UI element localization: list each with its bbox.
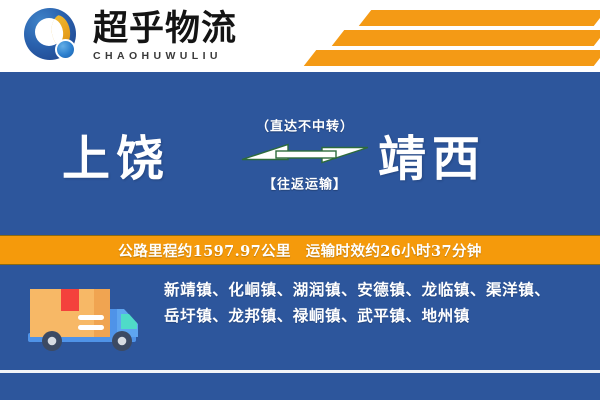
stripe-2 xyxy=(332,30,600,46)
destination-city: 靖西 xyxy=(378,119,486,189)
double-headed-arrow-icon xyxy=(240,137,370,169)
header-bar: 超乎物流 CHAOHUWULIU xyxy=(0,0,600,72)
brand-name-en: CHAOHUWULIU xyxy=(93,50,237,62)
route-note-roundtrip: 【往返运输】 xyxy=(240,173,370,192)
brand-text-block: 超乎物流 CHAOHUWULIU xyxy=(93,10,237,62)
logistics-route-banner: 超乎物流 CHAOHUWULIU 上饶 （直达不中转） 【往返运输】 靖西 公路… xyxy=(0,0,600,400)
stripe-3 xyxy=(304,50,600,66)
coverage-section: 新靖镇、化峒镇、湖润镇、安德镇、龙临镇、渠洋镇、 岳圩镇、龙邦镇、禄峒镇、武平镇… xyxy=(0,265,600,370)
distance-duration-text: 公路里程约1597.97公里 运输时效约26小时37分钟 xyxy=(118,240,482,261)
delivery-truck-icon xyxy=(26,283,148,355)
town-line-2: 岳圩镇、龙邦镇、禄峒镇、武平镇、地州镇 xyxy=(164,303,584,329)
orange-speed-stripes-icon xyxy=(310,0,600,72)
logo-accent-dot-icon xyxy=(55,39,76,60)
brand-name-cn: 超乎物流 xyxy=(93,10,237,48)
distance-duration-bar: 公路里程约1597.97公里 运输时效约26小时37分钟 xyxy=(0,235,600,265)
route-note-direct: （直达不中转） xyxy=(240,115,370,134)
footer-bar xyxy=(0,373,600,400)
origin-city: 上饶 xyxy=(62,119,170,189)
route-section: 上饶 （直达不中转） 【往返运输】 靖西 xyxy=(0,72,600,235)
town-line-1: 新靖镇、化峒镇、湖润镇、安德镇、龙临镇、渠洋镇、 xyxy=(164,277,584,303)
brand-logo: 超乎物流 CHAOHUWULIU xyxy=(22,6,237,66)
stripe-1 xyxy=(359,10,600,26)
route-connector: （直达不中转） 【往返运输】 xyxy=(240,115,370,192)
circle-moon-logo-icon xyxy=(22,6,84,66)
covered-towns-list: 新靖镇、化峒镇、湖润镇、安德镇、龙临镇、渠洋镇、 岳圩镇、龙邦镇、禄峒镇、武平镇… xyxy=(164,277,584,329)
